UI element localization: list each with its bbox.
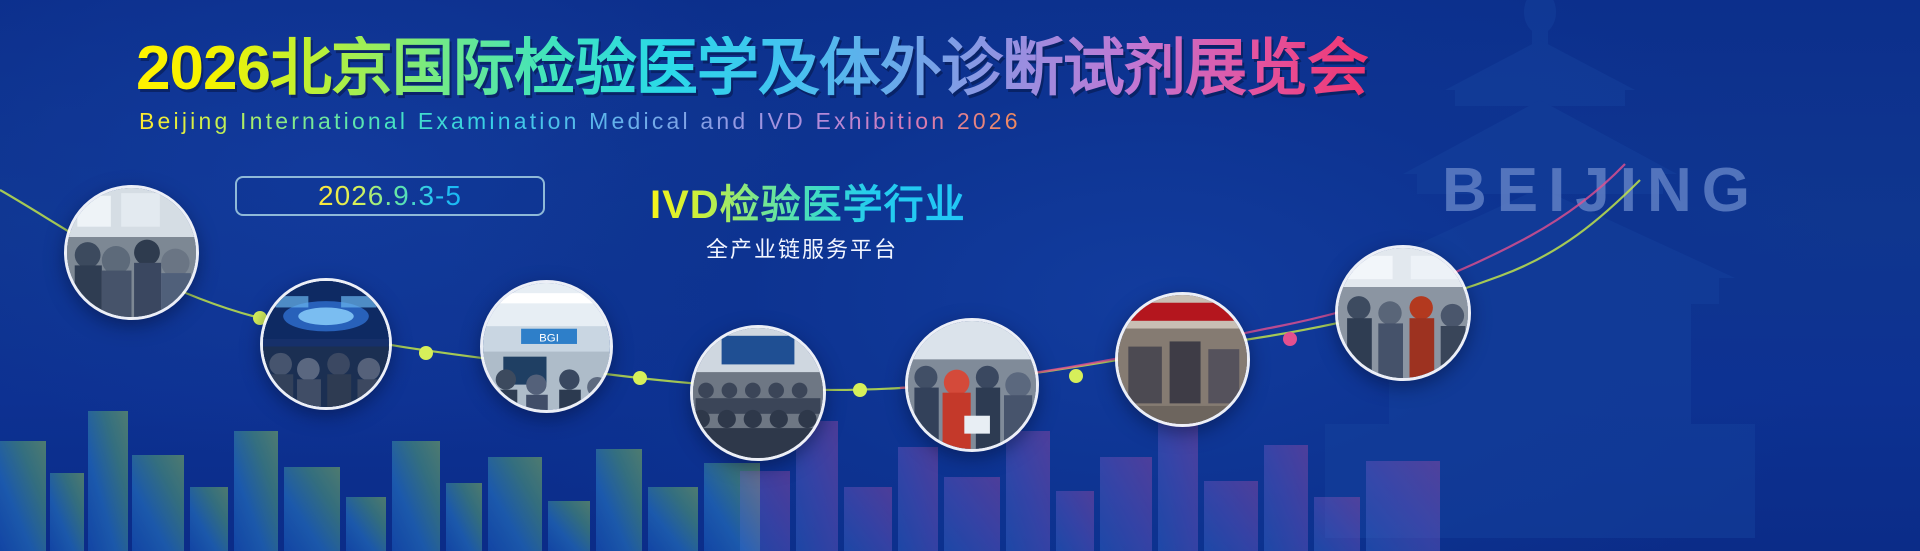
photo-bubble-equipment-display-banner: [1115, 292, 1250, 427]
city-skyline-right-icon: [740, 301, 1440, 551]
photo-bubble-booth-visitors-badges: [905, 318, 1039, 452]
page-subtitle-english: Beijing International Examination Medica…: [139, 108, 1021, 135]
photo-crowd-visitors-aisle: [67, 188, 196, 317]
event-date-label: 2026.9.3-5: [318, 180, 462, 212]
svg-text:BGI: BGI: [539, 332, 559, 344]
photo-bgi-booth: BGI: [483, 283, 610, 410]
event-date-pill: 2026.9.3-5: [235, 176, 545, 216]
slogan-secondary: 全产业链服务平台: [706, 232, 898, 264]
photo-bubble-conference-audience: [690, 325, 826, 461]
photo-bubble-crowd-visitors-aisle: [64, 185, 199, 320]
photo-booth-visitors-badges: [908, 321, 1036, 449]
photo-equipment-display-banner: [1118, 295, 1247, 424]
photo-bubble-visitors-walking-hall: [1335, 245, 1471, 381]
photo-bubble-bgi-booth: BGI: [480, 280, 613, 413]
exhibition-banner: BEIJING: [0, 0, 1920, 551]
photo-exhibition-booth-blue-lights: [263, 281, 389, 407]
page-title: 2026北京国际检验医学及体外诊断试剂展览会: [136, 36, 1368, 101]
city-word-beijing: BEIJING: [1442, 155, 1760, 226]
photo-visitors-walking-hall: [1338, 248, 1468, 378]
slogan-primary: IVD检验医学行业: [650, 172, 966, 230]
photo-bubble-exhibition-booth-blue-lights: [260, 278, 392, 410]
photo-conference-audience: [693, 328, 823, 458]
